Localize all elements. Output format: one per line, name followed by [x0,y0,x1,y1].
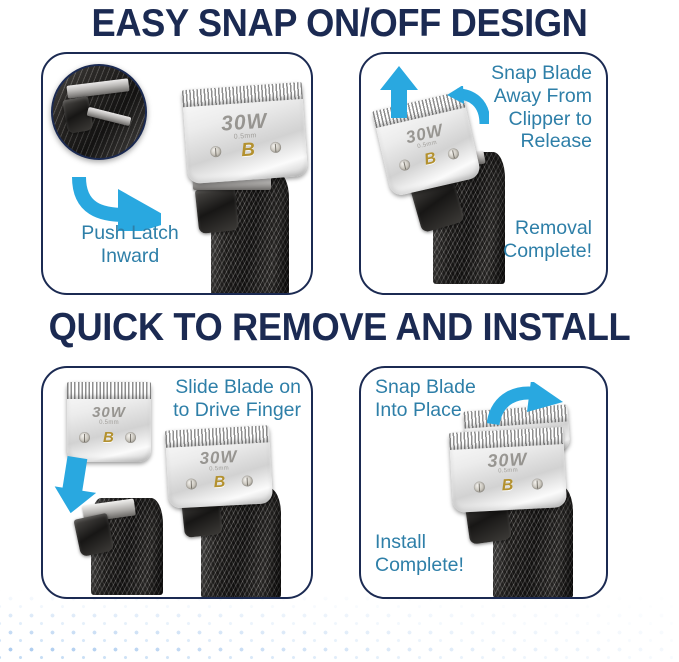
caption-install-complete: Install Complete! [375,531,525,577]
caption-removal-complete: Removal Complete! [432,217,592,263]
panel-snap-blade-away: 30W 0.5mm B Snap Blade Away From Clipper… [359,52,608,295]
panel-slide-blade-on-drive-finger: 30W 0.5mm B 30W 0.5mm B Slide Blade on t… [41,366,313,599]
blade-size-engraving: 0.5mm [451,465,565,477]
panel-snap-blade-into-place: 30W 0.5mm B Snap Blade Into Place Instal… [359,366,608,599]
blade-screw-left [210,146,222,158]
caption-slide-blade-on: Slide Blade on to Drive Finger [121,376,301,422]
brand-logo-b: B [501,477,513,496]
blade-screw-left [79,432,90,443]
clipper-blade: 30W 0.5mm B [165,425,273,508]
blade-screw-right [531,478,543,490]
clipper-assembled: 30W 0.5mm B [149,426,309,598]
blade-teeth [182,82,303,107]
blade-screw-left [186,478,198,490]
caption-snap-blade-into-place: Snap Blade Into Place [375,376,525,422]
blade-screw-left [398,158,411,171]
page-title-bottom: QUICK TO REMOVE AND INSTALL [24,306,655,350]
straight-arrow-up-icon [377,64,421,120]
panel-push-latch-inward: 30W 0.5mm B Push Latch Inward [41,52,313,295]
blade-screw-right [270,142,282,154]
clipper-blade: 30W 0.5mm B [449,427,567,513]
blade-screw-right [125,432,136,443]
page-title-top: EASY SNAP ON/OFF DESIGN [24,2,655,46]
clipper-blade: 30W 0.5mm B [182,82,308,184]
caption-snap-blade-away: Snap Blade Away From Clipper to Release [432,62,592,153]
magnified-latch-detail-inset [51,64,147,160]
brand-logo-b: B [241,139,256,162]
brand-logo-b: B [103,429,114,446]
blade-teeth [165,425,270,447]
blade-screw-left [474,481,486,493]
caption-push-latch-inward: Push Latch Inward [55,222,205,268]
brand-logo-b: B [213,474,225,493]
blade-screw-right [241,475,253,487]
decorative-dot-pattern [0,590,679,662]
arrow-down-icon [53,456,103,516]
